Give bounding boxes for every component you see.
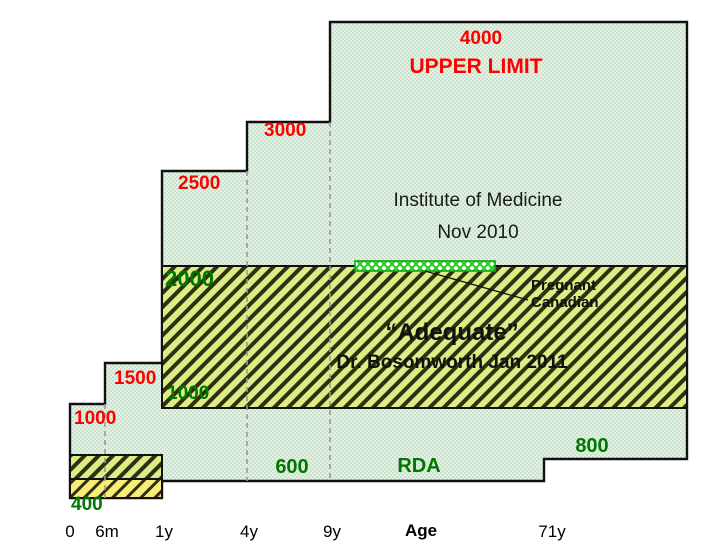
upper-limit-1000-label: 1000 (74, 408, 116, 430)
upper-limit-2500-label: 2500 (178, 173, 220, 195)
source-line1: Institute of Medicine (394, 190, 563, 212)
source-line2: Nov 2010 (437, 222, 518, 244)
pregnant-canadian-line1: Pregnant (531, 277, 596, 294)
rda-title: RDA (397, 455, 440, 478)
vitamin-d-step-chart (0, 0, 726, 557)
upper-limit-4000-label: 4000 (460, 28, 502, 50)
infant-adequate-band (70, 455, 162, 479)
rda-800-label: 800 (575, 435, 608, 458)
x-tick-1y: 1y (155, 522, 173, 542)
upper-limit-region (70, 22, 687, 498)
x-tick-0: 0 (65, 522, 74, 542)
chart-canvas: 4000 UPPER LIMIT 3000 2500 1500 1000 Ins… (0, 0, 726, 557)
adequate-band-author: Dr. Bosomworth Jan 2011 (336, 352, 567, 374)
rda-600-label: 600 (275, 456, 308, 479)
adequate-2000-label: 2000 (165, 266, 214, 292)
x-axis-title: Age (405, 521, 437, 541)
pregnant-canadian-line2: Canadian (531, 294, 599, 311)
upper-limit-3000-label: 3000 (264, 120, 306, 142)
x-tick-6m: 6m (95, 522, 119, 542)
upper-limit-1500-label: 1500 (114, 368, 156, 390)
x-tick-71y: 71y (538, 522, 565, 542)
x-tick-9y: 9y (323, 522, 341, 542)
upper-limit-title: UPPER LIMIT (409, 55, 542, 79)
adequate-1000-label: 1000 (167, 383, 209, 405)
x-tick-4y: 4y (240, 522, 258, 542)
adequate-400-label: 400 (71, 494, 103, 516)
adequate-band-title: “Adequate” (385, 319, 518, 347)
